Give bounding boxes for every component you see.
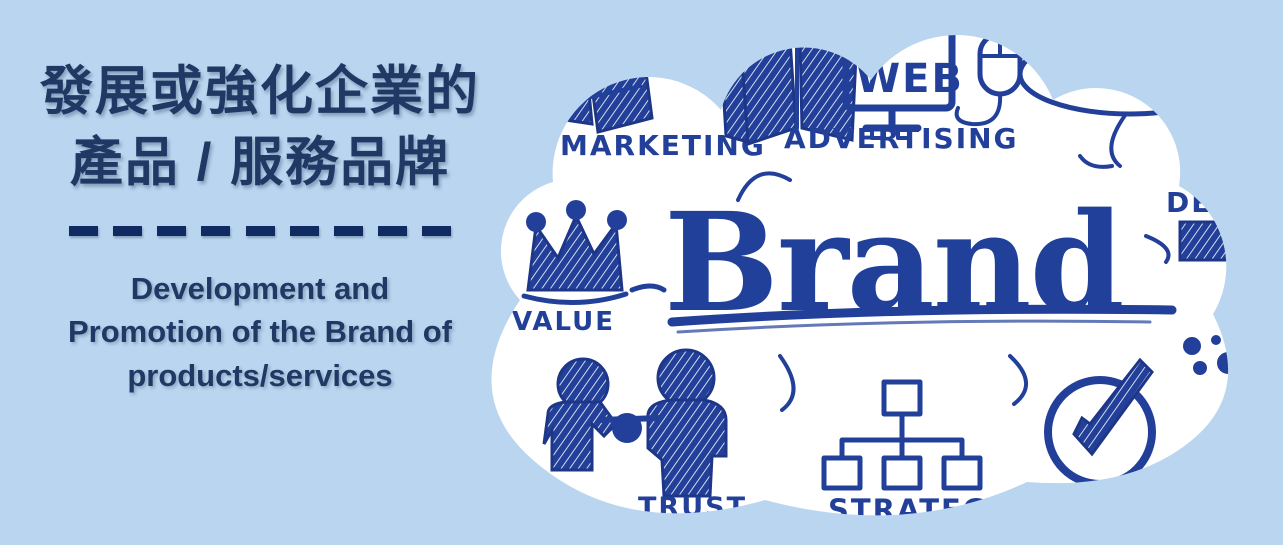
chinese-headline-line2: 產品 / 服務品牌: [70, 129, 450, 198]
divider-dash: [69, 226, 98, 236]
label-value: VALUE: [512, 307, 615, 337]
divider-dash: [157, 226, 186, 236]
divider-dash: [378, 226, 407, 236]
label-identity: IDENTITY: [1046, 483, 1212, 517]
english-subtitle-line2: Promotion of the Brand of: [0, 310, 520, 353]
crown-icon: [524, 200, 627, 303]
divider-dash: [246, 226, 275, 236]
chinese-headline-line1: 發展或強化企業的: [40, 58, 480, 127]
label-web: WEB: [856, 56, 964, 102]
headline-panel: 發展或強化企業的 產品 / 服務品牌 Development and Promo…: [0, 0, 520, 545]
set-square-icon: [1186, 130, 1272, 196]
english-subtitle-line1: Development and: [0, 267, 520, 310]
dashed-divider: [69, 226, 451, 237]
divider-dash: [113, 226, 142, 236]
divider-dash: [290, 226, 319, 236]
divider-dash: [422, 226, 451, 236]
label-advertising: ADVERTISING: [784, 122, 1019, 155]
label-strategy: STRATEGY: [828, 493, 1011, 527]
divider-dash: [334, 226, 363, 236]
english-subtitle: Development and Promotion of the Brand o…: [0, 267, 520, 397]
label-logo: LOGO: [1060, 54, 1180, 95]
divider-dash: [201, 226, 230, 236]
label-design: DESIGN: [1166, 186, 1283, 219]
brand-banner: MARKETING WEB ADVERTISING: [0, 0, 1283, 545]
label-trust: TRUST: [638, 492, 747, 523]
english-subtitle-line3: products/services: [0, 354, 520, 397]
cursor-arrow-icon: [1248, 345, 1278, 392]
